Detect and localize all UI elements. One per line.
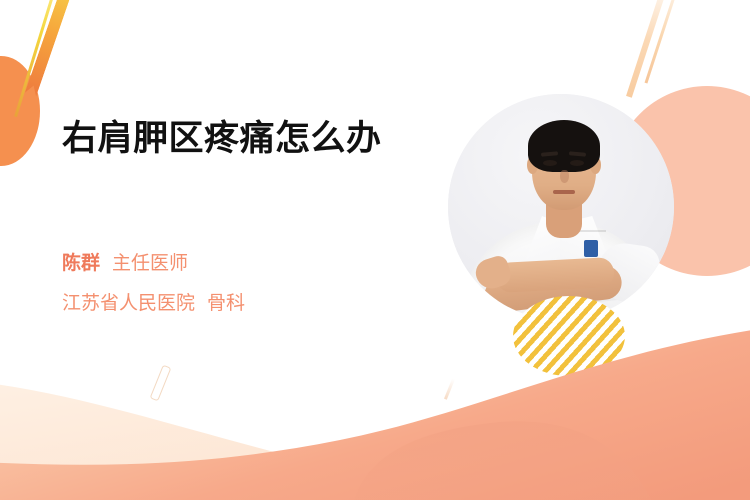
mouth	[553, 190, 575, 194]
orange-stripe-thick-decoration	[25, 0, 75, 97]
forearm-upper	[495, 257, 614, 293]
eye-right	[570, 160, 584, 166]
peach-stripe-b-decoration	[645, 0, 685, 84]
outlined-sliver-decoration	[150, 365, 172, 402]
doctor-portrait-photo	[448, 94, 674, 320]
doctor-credential-line: 陈群主任医师	[62, 248, 188, 275]
hospital-department: 骨科	[207, 293, 245, 314]
nose	[560, 170, 569, 183]
bottom-wave-dark	[0, 290, 750, 500]
hair	[528, 120, 600, 172]
doctor-professional-title: 主任医师	[112, 253, 188, 274]
bottom-wave-light	[0, 290, 750, 500]
thin-sliver-decoration	[444, 378, 455, 400]
orange-circle-decoration	[0, 56, 40, 166]
peach-stripe-a-decoration	[626, 0, 672, 98]
doctor-video-card: 右肩胛区疼痛怎么办 陈群主任医师 江苏省人民医院骨科	[0, 0, 750, 500]
doctor-name: 陈群	[62, 253, 100, 274]
yellow-stripe-thin-decoration	[14, 0, 61, 117]
hospital-name: 江苏省人民医院	[62, 293, 195, 314]
eye-left	[543, 160, 557, 166]
video-title: 右肩胛区疼痛怎么办	[62, 118, 412, 161]
doctor-affiliation-line: 江苏省人民医院骨科	[62, 288, 245, 315]
hospital-badge	[584, 240, 598, 257]
